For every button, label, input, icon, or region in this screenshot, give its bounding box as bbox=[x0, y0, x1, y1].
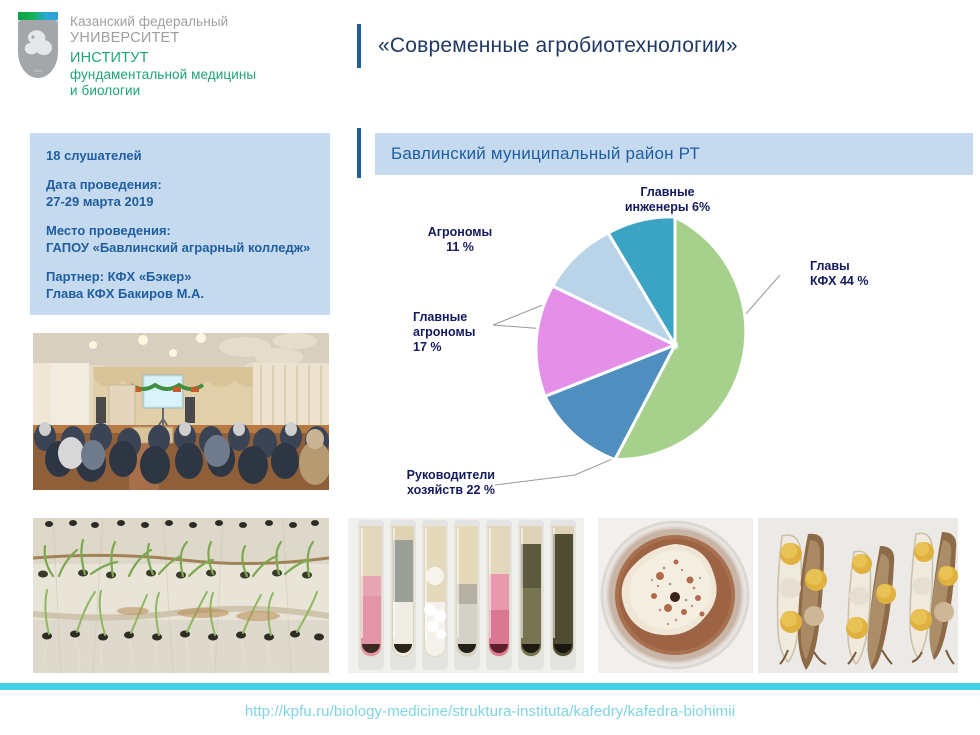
footer-divider bbox=[0, 683, 980, 690]
pie-label-agronomy: Агрономы 11 % bbox=[405, 225, 515, 255]
info-place-label: Место проведения: bbox=[46, 222, 314, 240]
logo-line-kazan: Казанский федеральный bbox=[70, 14, 256, 30]
info-date-label: Дата проведения: bbox=[46, 176, 314, 194]
pie-chart: Главные инженеры 6% Агрономы 11 % Главны… bbox=[375, 185, 973, 505]
kfu-logo: 1804 Казанский федеральный УНИВЕРСИТЕТ И… bbox=[16, 12, 346, 98]
chart-panel-title: Бавлинский муниципальный район РТ bbox=[391, 144, 700, 164]
logo-gradient-bar bbox=[18, 12, 58, 20]
kfu-shield-icon: 1804 bbox=[16, 12, 60, 84]
footer-url[interactable]: http://kpfu.ru/biology-medicine/struktur… bbox=[0, 703, 980, 720]
panel-accent-bar bbox=[357, 128, 361, 178]
pie-label-glavnye-agronomy: Главные агрономы 17 % bbox=[413, 310, 533, 355]
logo-line-university: УНИВЕРСИТЕТ bbox=[70, 30, 256, 47]
photo-seedlings bbox=[33, 518, 329, 673]
photo-test-tubes bbox=[348, 518, 584, 673]
photo-soybean-pods bbox=[758, 518, 958, 673]
pie-label-rukovoditeli: Руководители хозяйств 22 % bbox=[370, 468, 495, 498]
title-accent-bar bbox=[357, 24, 361, 68]
page-title: «Современные агробиотехнологии» bbox=[357, 24, 738, 68]
info-partner-line2: Глава КФХ Бакиров М.А. bbox=[46, 285, 314, 303]
slide-root: 1804 Казанский федеральный УНИВЕРСИТЕТ И… bbox=[0, 0, 980, 735]
photo-petri-dish bbox=[598, 518, 753, 673]
info-place-value: ГАПОУ «Бавлинский аграрный колледж» bbox=[46, 239, 314, 257]
title-text: «Современные агробиотехнологии» bbox=[378, 34, 738, 58]
photo-lecture-hall bbox=[33, 333, 329, 490]
chart-panel-header: Бавлинский муниципальный район РТ bbox=[375, 133, 973, 175]
pie-label-glavy-kfh: Главы КФХ 44 % bbox=[810, 259, 950, 289]
shield-body: 1804 bbox=[18, 20, 58, 78]
logo-text-block: Казанский федеральный УНИВЕРСИТЕТ ИНСТИТ… bbox=[70, 12, 256, 98]
svg-text:1804: 1804 bbox=[34, 68, 44, 73]
pie-label-glavnye-inzhenery: Главные инженеры 6% bbox=[575, 185, 760, 215]
info-partner-line1: Партнер: КФХ «Бэкер» bbox=[46, 268, 314, 286]
info-listeners: 18 слушателей bbox=[46, 147, 314, 165]
logo-line-biology: и биологии bbox=[70, 83, 256, 99]
logo-line-medicine: фундаментальной медицины bbox=[70, 67, 256, 83]
pie-slices bbox=[536, 217, 746, 460]
logo-line-institute: ИНСТИТУТ bbox=[70, 50, 256, 67]
info-date-value: 27-29 марта 2019 bbox=[46, 193, 314, 211]
event-info-box: 18 слушателей Дата проведения: 27-29 мар… bbox=[30, 133, 330, 315]
